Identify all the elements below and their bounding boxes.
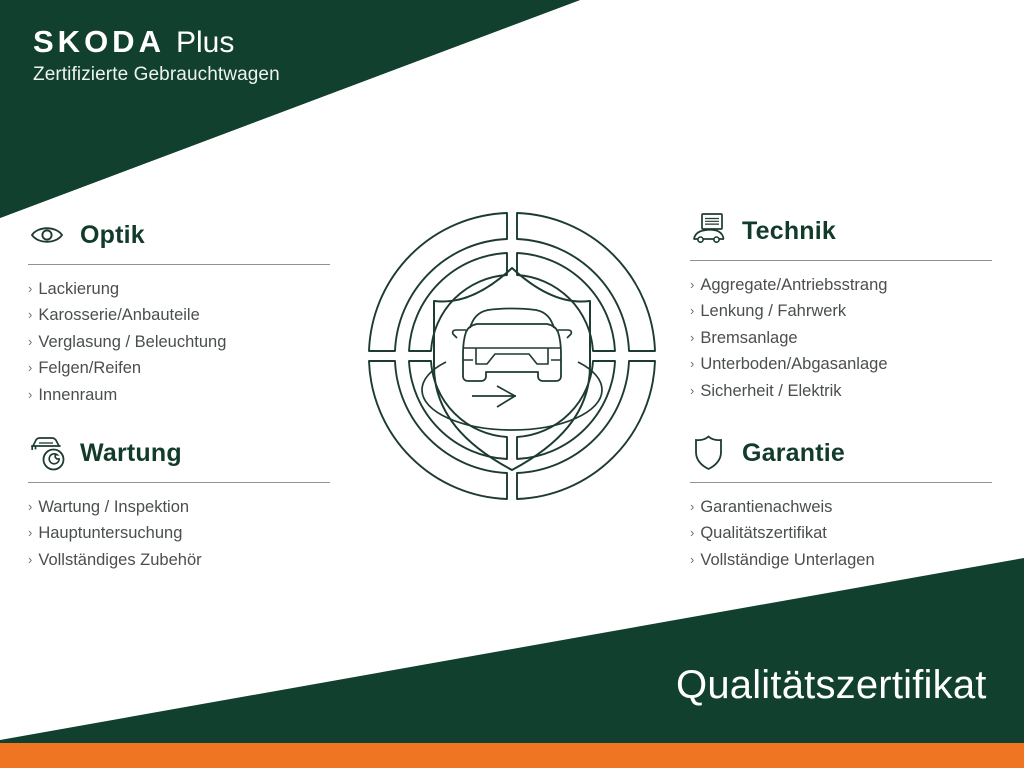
eye-icon — [28, 215, 70, 255]
brand-suffix: Plus — [176, 28, 234, 58]
brand-subtitle: Zertifizierte Gebrauchtwagen — [33, 65, 453, 86]
brand-block: SKODA Plus Zertifizierte Gebrauchtwagen — [33, 26, 453, 86]
chevron-right-icon: › — [28, 356, 32, 379]
list-item: ›Karosserie/Anbauteile — [28, 303, 330, 328]
chevron-right-icon: › — [28, 383, 32, 406]
chevron-right-icon: › — [690, 379, 694, 402]
list-item: ›Innenraum — [28, 383, 330, 408]
chevron-right-icon: › — [690, 521, 694, 544]
list-item-label: Vollständiges Zubehör — [38, 548, 201, 573]
list-item-label: Sicherheit / Elektrik — [700, 379, 841, 404]
section-list-optik: ›Lackierung ›Karosserie/Anbauteile ›Verg… — [28, 277, 330, 408]
section-title-optik: Optik — [80, 223, 145, 248]
list-item: ›Sicherheit / Elektrik — [690, 379, 992, 404]
chevron-right-icon: › — [690, 299, 694, 322]
list-item-label: Garantienachweis — [700, 495, 832, 520]
car-inspection-report-icon — [690, 211, 732, 251]
section-garantie: Garantie ›Garantienachweis ›Qualitätszer… — [690, 430, 992, 574]
chevron-right-icon: › — [690, 548, 694, 571]
list-item-label: Aggregate/Antriebsstrang — [700, 273, 887, 298]
chevron-right-icon: › — [28, 548, 32, 571]
chevron-right-icon: › — [28, 303, 32, 326]
list-item: ›Aggregate/Antriebsstrang — [690, 273, 992, 298]
list-item-label: Qualitätszertifikat — [700, 521, 827, 546]
list-item-label: Verglasung / Beleuchtung — [38, 330, 226, 355]
section-title-technik: Technik — [742, 219, 836, 244]
list-item: ›Hauptuntersuchung — [28, 521, 330, 546]
list-item-label: Bremsanlage — [700, 326, 797, 351]
list-item: ›Verglasung / Beleuchtung — [28, 330, 330, 355]
section-list-garantie: ›Garantienachweis ›Qualitätszertifikat ›… — [690, 495, 992, 573]
list-item-label: Lackierung — [38, 277, 119, 302]
list-item-label: Vollständige Unterlagen — [700, 548, 874, 573]
list-item: ›Qualitätszertifikat — [690, 521, 992, 546]
section-divider — [690, 260, 992, 261]
chevron-right-icon: › — [28, 521, 32, 544]
list-item: ›Vollständiges Zubehör — [28, 548, 330, 573]
certificate-poster: SKODA Plus Zertifizierte Gebrauchtwagen … — [0, 0, 1024, 768]
list-item-label: Lenkung / Fahrwerk — [700, 299, 846, 324]
list-item-label: Unterboden/Abgasanlage — [700, 352, 887, 377]
list-item: ›Vollständige Unterlagen — [690, 548, 992, 573]
certified-vehicle-shield-emblem — [352, 196, 672, 516]
section-optik: Optik ›Lackierung ›Karosserie/Anbauteile… — [28, 212, 330, 409]
orange-accent-bar — [0, 743, 1024, 768]
chevron-right-icon: › — [28, 495, 32, 518]
list-item: ›Wartung / Inspektion — [28, 495, 330, 520]
chevron-right-icon: › — [690, 495, 694, 518]
list-item-label: Innenraum — [38, 383, 117, 408]
list-item-label: Hauptuntersuchung — [38, 521, 182, 546]
shield-icon — [690, 433, 732, 473]
chevron-right-icon: › — [28, 330, 32, 353]
list-item: ›Felgen/Reifen — [28, 356, 330, 381]
section-list-wartung: ›Wartung / Inspektion ›Hauptuntersuchung… — [28, 495, 330, 573]
list-item: ›Bremsanlage — [690, 326, 992, 351]
section-divider — [690, 482, 992, 483]
chevron-right-icon: › — [690, 352, 694, 375]
section-list-technik: ›Aggregate/Antriebsstrang ›Lenkung / Fah… — [690, 273, 992, 404]
list-item: ›Lackierung — [28, 277, 330, 302]
chevron-right-icon: › — [690, 326, 694, 349]
chevron-right-icon: › — [690, 273, 694, 296]
list-item: ›Lenkung / Fahrwerk — [690, 299, 992, 324]
list-item-label: Karosserie/Anbauteile — [38, 303, 199, 328]
list-item: ›Garantienachweis — [690, 495, 992, 520]
section-divider — [28, 482, 330, 483]
section-divider — [28, 264, 330, 265]
section-technik: Technik ›Aggregate/Antriebsstrang ›Lenku… — [690, 208, 992, 405]
section-title-wartung: Wartung — [80, 441, 182, 466]
chevron-right-icon: › — [28, 277, 32, 300]
brand-wordmark: SKODA — [33, 26, 165, 57]
list-item: ›Unterboden/Abgasanlage — [690, 352, 992, 377]
section-title-garantie: Garantie — [742, 441, 845, 466]
list-item-label: Wartung / Inspektion — [38, 495, 189, 520]
section-wartung: Wartung ›Wartung / Inspektion ›Hauptunte… — [28, 430, 330, 574]
footer-title: Qualitätszertifikat — [676, 665, 987, 705]
list-item-label: Felgen/Reifen — [38, 356, 141, 381]
car-service-wrench-icon — [28, 433, 70, 473]
